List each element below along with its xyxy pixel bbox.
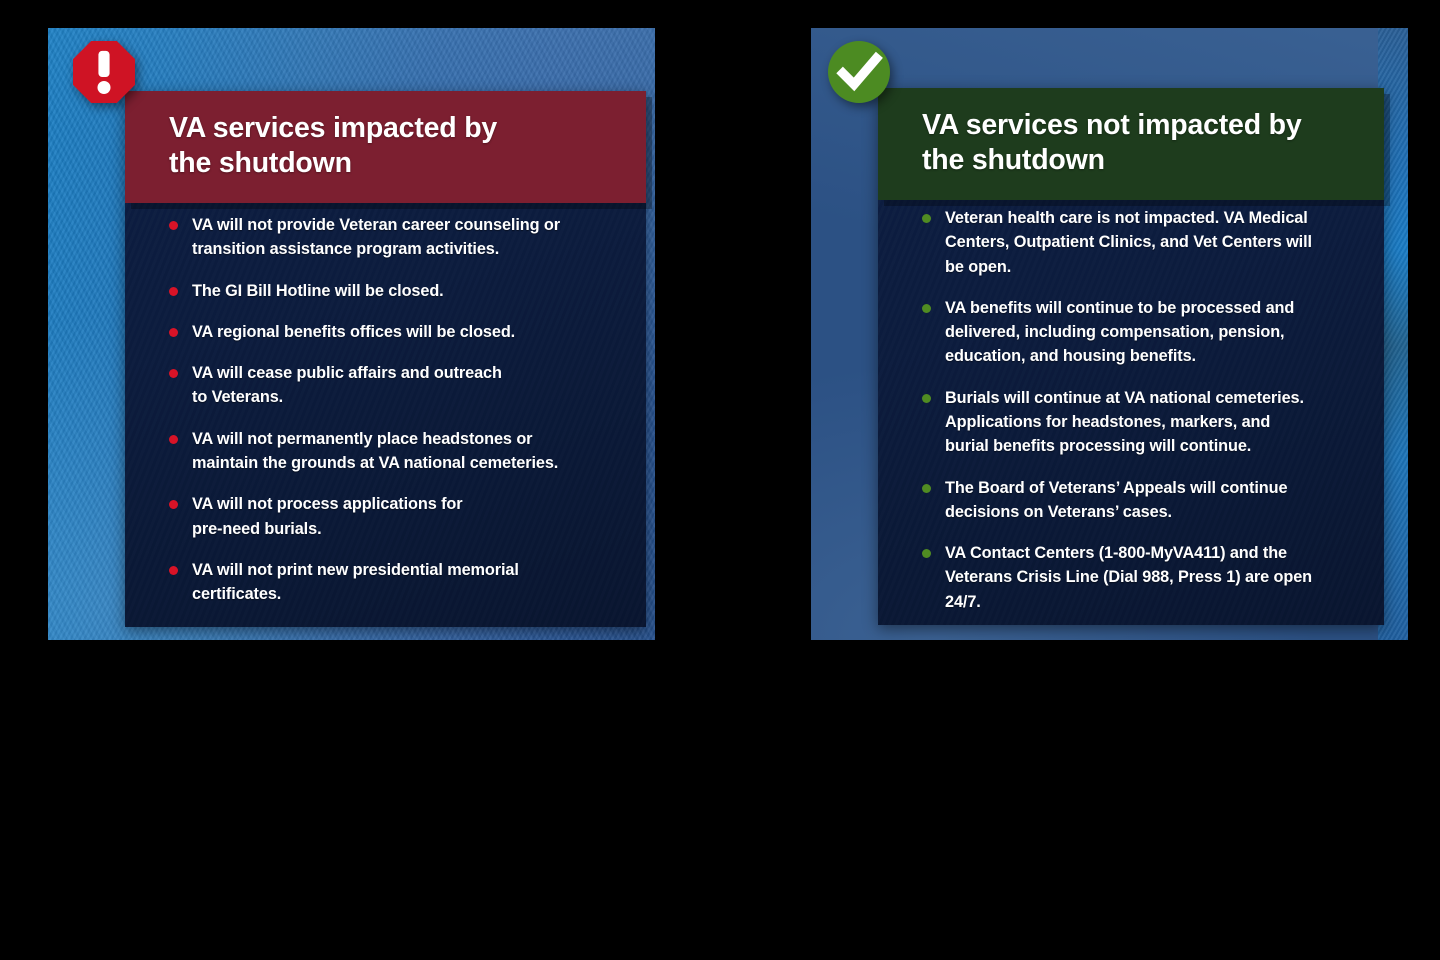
list-item: VA regional benefits offices will be clo…: [169, 320, 624, 344]
not-impacted-header-band: VA services not impacted by the shutdown: [878, 88, 1384, 200]
red-bullet-dot-icon: [169, 369, 178, 378]
not-impacted-bullet-list: Veteran health care is not impacted. VA …: [922, 206, 1362, 631]
list-item-text: VA Contact Centers (1-800-MyVA411) and t…: [945, 541, 1312, 614]
success-checkmark-circle-icon: [828, 41, 890, 103]
panel-services-impacted: VA services impacted by the shutdown VA …: [48, 28, 655, 640]
list-item-text: VA benefits will continue to be processe…: [945, 296, 1294, 369]
red-bullet-dot-icon: [169, 435, 178, 444]
list-item: The GI Bill Hotline will be closed.: [169, 279, 624, 303]
not-impacted-title: VA services not impacted by the shutdown: [922, 108, 1358, 178]
list-item-text: VA will not permanently place headstones…: [192, 427, 558, 476]
panel-services-not-impacted: VA services not impacted by the shutdown…: [811, 28, 1408, 640]
list-item: VA will not provide Veteran career couns…: [169, 213, 624, 262]
impacted-title: VA services impacted by the shutdown: [169, 111, 620, 181]
list-item: VA benefits will continue to be processe…: [922, 296, 1362, 369]
list-item: Veteran health care is not impacted. VA …: [922, 206, 1362, 279]
alert-exclamation-octagon-icon: [73, 41, 135, 103]
not-impacted-content-card: VA services not impacted by the shutdown…: [878, 88, 1384, 625]
list-item: VA will cease public affairs and outreac…: [169, 361, 624, 410]
list-item-text: VA will not provide Veteran career couns…: [192, 213, 560, 262]
infographic-stage: VA services impacted by the shutdown VA …: [0, 0, 1440, 960]
list-item-text: Veteran health care is not impacted. VA …: [945, 206, 1312, 279]
impacted-content-card: VA services impacted by the shutdown VA …: [125, 91, 646, 627]
list-item: VA will not print new presidential memor…: [169, 558, 624, 607]
green-bullet-dot-icon: [922, 304, 931, 313]
list-item-text: The GI Bill Hotline will be closed.: [192, 279, 444, 303]
list-item: Burials will continue at VA national cem…: [922, 386, 1362, 459]
list-item-text: VA regional benefits offices will be clo…: [192, 320, 515, 344]
list-item-text: VA will not process applications for pre…: [192, 492, 463, 541]
green-bullet-dot-icon: [922, 484, 931, 493]
red-bullet-dot-icon: [169, 328, 178, 337]
list-item: VA will not process applications for pre…: [169, 492, 624, 541]
green-bullet-dot-icon: [922, 214, 931, 223]
green-bullet-dot-icon: [922, 394, 931, 403]
green-bullet-dot-icon: [922, 549, 931, 558]
red-bullet-dot-icon: [169, 221, 178, 230]
red-bullet-dot-icon: [169, 566, 178, 575]
list-item-text: VA will cease public affairs and outreac…: [192, 361, 502, 410]
list-item-text: The Board of Veterans’ Appeals will cont…: [945, 476, 1287, 525]
impacted-bullet-list: VA will not provide Veteran career couns…: [169, 213, 624, 623]
list-item-text: VA will not print new presidential memor…: [192, 558, 519, 607]
red-bullet-dot-icon: [169, 500, 178, 509]
impacted-header-band: VA services impacted by the shutdown: [125, 91, 646, 203]
list-item: VA will not permanently place headstones…: [169, 427, 624, 476]
list-item-text: Burials will continue at VA national cem…: [945, 386, 1304, 459]
list-item: VA Contact Centers (1-800-MyVA411) and t…: [922, 541, 1362, 614]
red-bullet-dot-icon: [169, 287, 178, 296]
list-item: The Board of Veterans’ Appeals will cont…: [922, 476, 1362, 525]
